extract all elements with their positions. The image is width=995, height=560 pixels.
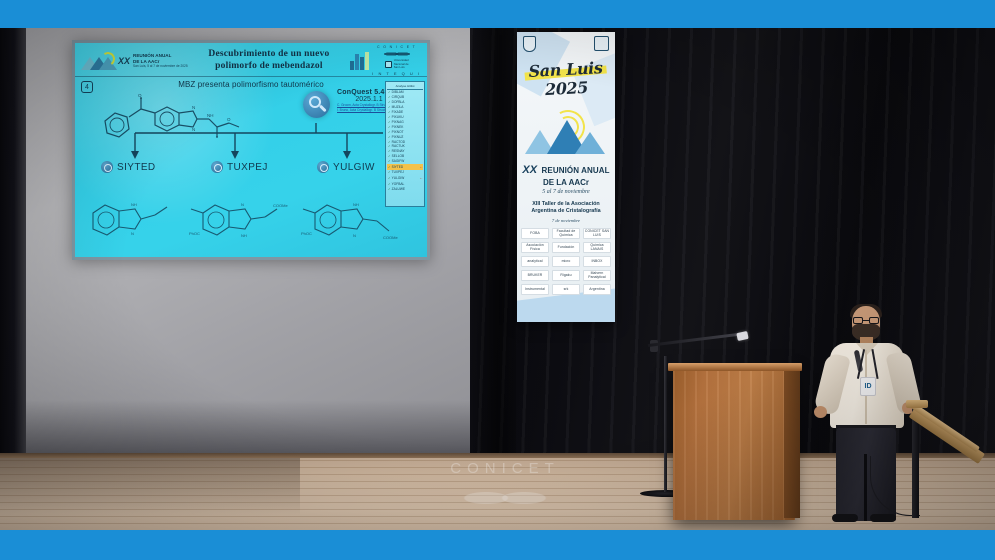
curtain-fold [470, 28, 516, 480]
svg-text:O: O [227, 117, 231, 122]
check-icon: ✓ [388, 176, 391, 181]
refcode-item-siyted[interactable]: SIYTED [101, 161, 156, 173]
podium-side-panel [784, 370, 800, 518]
svg-text:N: N [131, 231, 134, 236]
check-icon: ✓ [388, 187, 391, 192]
csd-results-panel[interactable]: Analyse Hitlist ✓ DIBLAM ✓ CIRQUB ✓ DOFB [385, 81, 425, 207]
sponsor-logo: CONICET SAN LUIS [583, 228, 611, 239]
sponsor-logo: Rigaku [552, 270, 580, 281]
projection-screen: XX REUNIÓN ANUAL DE LA AACr San Luis, 5 … [72, 40, 430, 260]
speaker-shoe-left [832, 514, 858, 522]
refcode-label: TUXPEJ [227, 162, 268, 173]
banner-event-title: XX REUNIÓN ANUAL DE LA AACr [517, 160, 615, 187]
sponsor-logo: BRUKER [521, 270, 549, 281]
refcode-marker-icon [211, 161, 223, 173]
svg-text:N: N [353, 233, 356, 238]
intequi-bars-icon [350, 52, 369, 70]
svg-text:COOMe: COOMe [273, 203, 288, 208]
refcode-row: SIYTED TUXPEJ YULGIW [89, 161, 419, 181]
svg-text:O: O [138, 93, 142, 98]
conicet-label: C O N I C E T [372, 45, 421, 49]
speaker-leg-divide [864, 454, 867, 521]
aacr-logo: XX REUNIÓN ANUAL DE LA AACr San Luis, 5 … [81, 51, 188, 71]
speaker-badge: ID [860, 377, 876, 396]
sponsor-logo: Instrumental [521, 284, 549, 295]
sponsor-logo: srk [552, 284, 580, 295]
svg-text:NH: NH [241, 233, 247, 238]
sponsor-logo: analytical [521, 256, 549, 267]
sponsor-logo: FOBA [521, 228, 549, 239]
refcode-label: SIYTED [117, 162, 156, 173]
intequi-label: I N T E Q U I [372, 71, 421, 76]
speaker-left-hand [814, 406, 827, 418]
result-code: ZALUWE [392, 187, 405, 192]
tautomer-structure-2: PhOC N NH COOMe [189, 191, 299, 249]
event-banner: San Luis 2025 XX REUNIÓN ANUAL DE LA AAC… [517, 32, 615, 322]
province-crest-icon [523, 36, 536, 52]
banner-workshop: XIII Taller de la Asociación Argentina d… [517, 201, 615, 216]
aacr-xx-label: XX [118, 56, 130, 66]
slide-header: XX REUNIÓN ANUAL DE LA AACr San Luis, 5 … [75, 43, 427, 77]
aacr-sub: San Luis, 5 al 7 de noviembre de 2025 [133, 64, 188, 68]
unsl-line3: San Luis [394, 66, 409, 69]
pointer-arrow-icon: ← [419, 164, 423, 170]
workshop-line2: Argentina de Cristalografía [517, 208, 615, 215]
wall-left-edge [0, 28, 26, 468]
result-code: SIYTED [392, 165, 404, 170]
banner-event-line2: DE LA AACr [517, 178, 615, 187]
flow-arrows [75, 123, 427, 165]
presentation-slide: XX REUNIÓN ANUAL DE LA AACr San Luis, 5 … [75, 43, 427, 257]
podium [673, 368, 795, 520]
svg-text:PhOC: PhOC [301, 231, 312, 236]
top-accent-band [0, 0, 995, 28]
speaker-person: ID [812, 306, 920, 521]
mountain-logo-icon [81, 51, 115, 71]
check-icon: ✓ [388, 170, 391, 175]
speaker-glasses-icon [853, 317, 879, 324]
svg-text:NH: NH [207, 113, 214, 118]
banner-event-dates: 5 al 7 de noviembre [517, 189, 615, 195]
check-icon: ✓ [388, 159, 391, 164]
institution-logos: C O N I C E T Universidad Nacional de Sa… [372, 45, 421, 75]
check-icon: ✓ [388, 165, 391, 170]
microphone-stand-pole [664, 356, 667, 492]
banner-workshop-date: 7 de noviembre [517, 218, 615, 223]
photo-frame: CONICET XX REUNIÓN ANUAL DE LA [0, 0, 995, 560]
refcode-item-tuxpej[interactable]: TUXPEJ [211, 161, 268, 173]
workshop-line1: XIII Taller de la Asociación [517, 201, 615, 208]
banner-script-title: San Luis 2025 [517, 57, 615, 100]
header-logos: C O N I C E T Universidad Nacional de Sa… [350, 45, 421, 75]
svg-text:NH: NH [353, 202, 359, 207]
pointer-arrow-icon: ← [419, 175, 423, 181]
conference-photo: CONICET XX REUNIÓN ANUAL DE LA [0, 28, 995, 530]
conicet-mark-icon [384, 50, 410, 58]
result-code: SAGIFW [392, 159, 405, 164]
unsl-logo: Universidad Nacional de San Luis [372, 59, 421, 69]
svg-text:COOMe: COOMe [383, 235, 398, 240]
slide-number-badge: 4 [81, 81, 93, 93]
results-list[interactable]: ✓ DIBLAM ✓ CIRQUB ✓ DOFBLA ✓ [387, 90, 423, 192]
sponsor-grid: FOBA Facultad de Química CONICET SAN LUI… [517, 228, 615, 295]
conquest-search-icon [303, 91, 330, 118]
svg-text:PhOC: PhOC [189, 231, 200, 236]
svg-text:NH: NH [131, 202, 137, 207]
banner-event-line1: REUNIÓN ANUAL [542, 166, 610, 175]
result-code: TUXPEJ [392, 170, 404, 175]
floor-shadow [0, 453, 300, 530]
sponsor-logo: Malvern Panalytical [583, 270, 611, 281]
unsl-shield-icon [385, 61, 392, 68]
sponsor-logo: Asociación Física [521, 242, 549, 253]
result-code: YULGIW [392, 176, 405, 181]
sponsor-logo: Facultad de Química [552, 228, 580, 239]
refcode-marker-icon [317, 161, 329, 173]
refcode-item-yulgiw[interactable]: YULGIW [317, 161, 375, 173]
tautomer-structure-1: NH N [87, 191, 187, 249]
aacr-text-block: REUNIÓN ANUAL DE LA AACr San Luis, 5 al … [133, 53, 188, 68]
sponsor-logo: INBOX [583, 256, 611, 267]
sponsor-logo: Química LANAIS [583, 242, 611, 253]
sponsor-logo: Fundación [552, 242, 580, 253]
bottom-accent-band [0, 530, 995, 560]
svg-text:N: N [192, 105, 195, 110]
podium-top-surface [668, 363, 802, 371]
refcode-label: YULGIW [333, 162, 375, 173]
speaker-shoe-right [870, 514, 896, 522]
result-row[interactable]: ✓ ZALUWE [387, 187, 423, 192]
sponsor-logo: Argentina [583, 284, 611, 295]
tautomer-structures: NH N PhOC N NH CO [87, 191, 407, 249]
railing-top-cap [906, 400, 928, 408]
banner-top-logos [517, 32, 615, 52]
unsl-logo-icon [594, 36, 609, 51]
slide-subtitle: MBZ presenta polimorfismo tautomérico [75, 77, 427, 89]
sponsor-logo: micro [552, 256, 580, 267]
unsl-text: Universidad Nacional de San Luis [394, 59, 409, 69]
refcode-marker-icon [101, 161, 113, 173]
svg-text:N: N [241, 202, 244, 207]
banner-mountain-logo-icon [517, 108, 615, 158]
banner-xx: XX [522, 164, 537, 176]
slide-title: Descubrimiento de un nuevo polimorfo de … [188, 49, 351, 71]
